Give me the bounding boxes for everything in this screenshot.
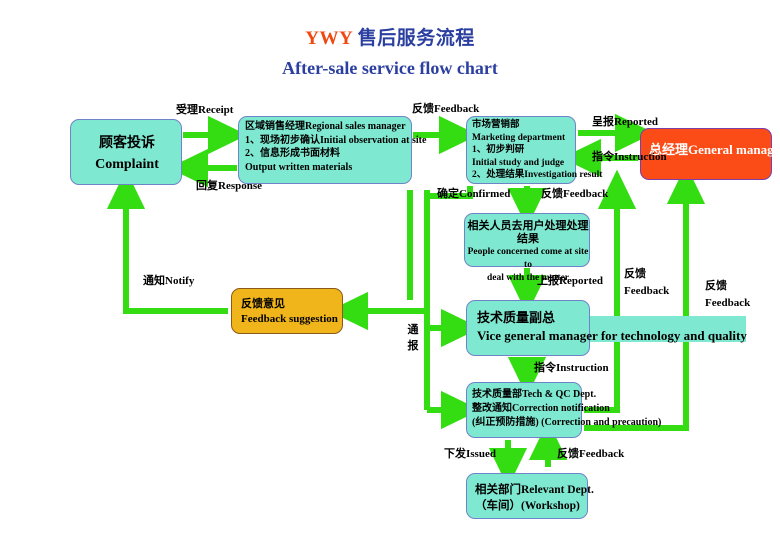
- tech-line3: (纠正预防措施) (Correction and precaution): [472, 416, 672, 430]
- label-notify: 通知Notify: [143, 275, 194, 288]
- flowchart-canvas: YWY 售后服务流程 After-sale service flow chart: [0, 0, 780, 540]
- label-response: 回复Response: [196, 180, 262, 193]
- sales-line2: 1、现场初步确认Initial observation at site: [245, 134, 475, 148]
- label-feedback-right-inner-en: Feedback: [624, 285, 669, 298]
- complaint-text: 顾客投诉 Complaint: [71, 133, 183, 175]
- relevant-line2: （车间）(Workshop): [475, 498, 655, 514]
- connector-layer: [0, 0, 780, 540]
- marketing-line5: 2、处理结果Investigation result: [472, 169, 647, 182]
- node-vice-general-manager[interactable]: 技术质量副总 Vice general manager for technolo…: [466, 300, 590, 356]
- label-feedback-bottom: 反馈Feedback: [557, 448, 624, 461]
- people-en1: People concerned come at site to: [465, 246, 591, 272]
- node-feedback-suggestion[interactable]: 反馈意见 Feedback suggestion: [231, 288, 343, 334]
- sales-line3: 2、信息形成书面材料: [245, 147, 475, 161]
- relevant-line1: 相关部门Relevant Dept.: [475, 482, 655, 498]
- label-feedback-top-left: 反馈Feedback: [412, 103, 479, 116]
- complaint-cn: 顾客投诉: [71, 133, 183, 154]
- sales-text: 区域销售经理Regional sales manager 1、现场初步确认Ini…: [245, 120, 475, 174]
- node-relevant-department[interactable]: 相关部门Relevant Dept. （车间）(Workshop): [466, 473, 588, 519]
- marketing-line2: Marketing department: [472, 132, 647, 145]
- label-reported-up: 上报Reported: [537, 275, 603, 288]
- relevant-text: 相关部门Relevant Dept. （车间）(Workshop): [475, 482, 655, 514]
- tech-line1: 技术质量部Tech & QC Dept.: [472, 388, 672, 402]
- tech-line2: 整改通知Correction notification: [472, 402, 672, 416]
- label-reported-gm: 呈报Reported: [592, 116, 658, 129]
- label-tongbao: 通报: [406, 322, 420, 354]
- vice-text: 技术质量副总 Vice general manager for technolo…: [477, 309, 767, 345]
- node-marketing-department[interactable]: 市场营销部 Marketing department 1、初步判研 Initia…: [466, 116, 576, 184]
- label-feedback-right-outer-cn: 反馈: [705, 280, 727, 293]
- label-feedback-right-inner-cn: 反馈: [624, 268, 646, 281]
- general-manager-label: 总经理General manager: [649, 143, 780, 156]
- node-people-concerned[interactable]: 相关人员去用户处理处理结果 People concerned come at s…: [464, 213, 590, 267]
- vice-cn: 技术质量副总: [477, 309, 767, 327]
- complaint-en: Complaint: [71, 154, 183, 175]
- tech-text: 技术质量部Tech & QC Dept. 整改通知Correction noti…: [472, 388, 672, 430]
- label-confirmed: 确定Confirmed: [437, 188, 510, 201]
- sales-line4: Output written materials: [245, 161, 475, 175]
- label-feedback-right-outer-en: Feedback: [705, 297, 750, 310]
- node-regional-sales-manager[interactable]: 区域销售经理Regional sales manager 1、现场初步确认Ini…: [238, 116, 412, 184]
- label-issued: 下发Issued: [444, 448, 496, 461]
- sales-line1: 区域销售经理Regional sales manager: [245, 120, 475, 134]
- feedback-suggestion-text: 反馈意见 Feedback suggestion: [241, 297, 381, 327]
- node-tech-qc-department[interactable]: 技术质量部Tech & QC Dept. 整改通知Correction noti…: [466, 382, 582, 438]
- feedback-suggestion-cn: 反馈意见: [241, 297, 381, 312]
- label-instruction-gm: 指令Instruction: [592, 151, 667, 164]
- label-feedback-mid: 反馈Feedback: [541, 188, 608, 201]
- vice-en: Vice general manager for technology and …: [477, 327, 767, 345]
- node-complaint[interactable]: 顾客投诉 Complaint: [70, 119, 182, 185]
- label-receipt: 受理Receipt: [176, 104, 233, 117]
- label-instruction-vice: 指令Instruction: [534, 362, 609, 375]
- people-cn: 相关人员去用户处理处理结果: [465, 220, 591, 246]
- feedback-suggestion-en: Feedback suggestion: [241, 312, 381, 327]
- edge-feedback-to-complaint: [126, 190, 228, 311]
